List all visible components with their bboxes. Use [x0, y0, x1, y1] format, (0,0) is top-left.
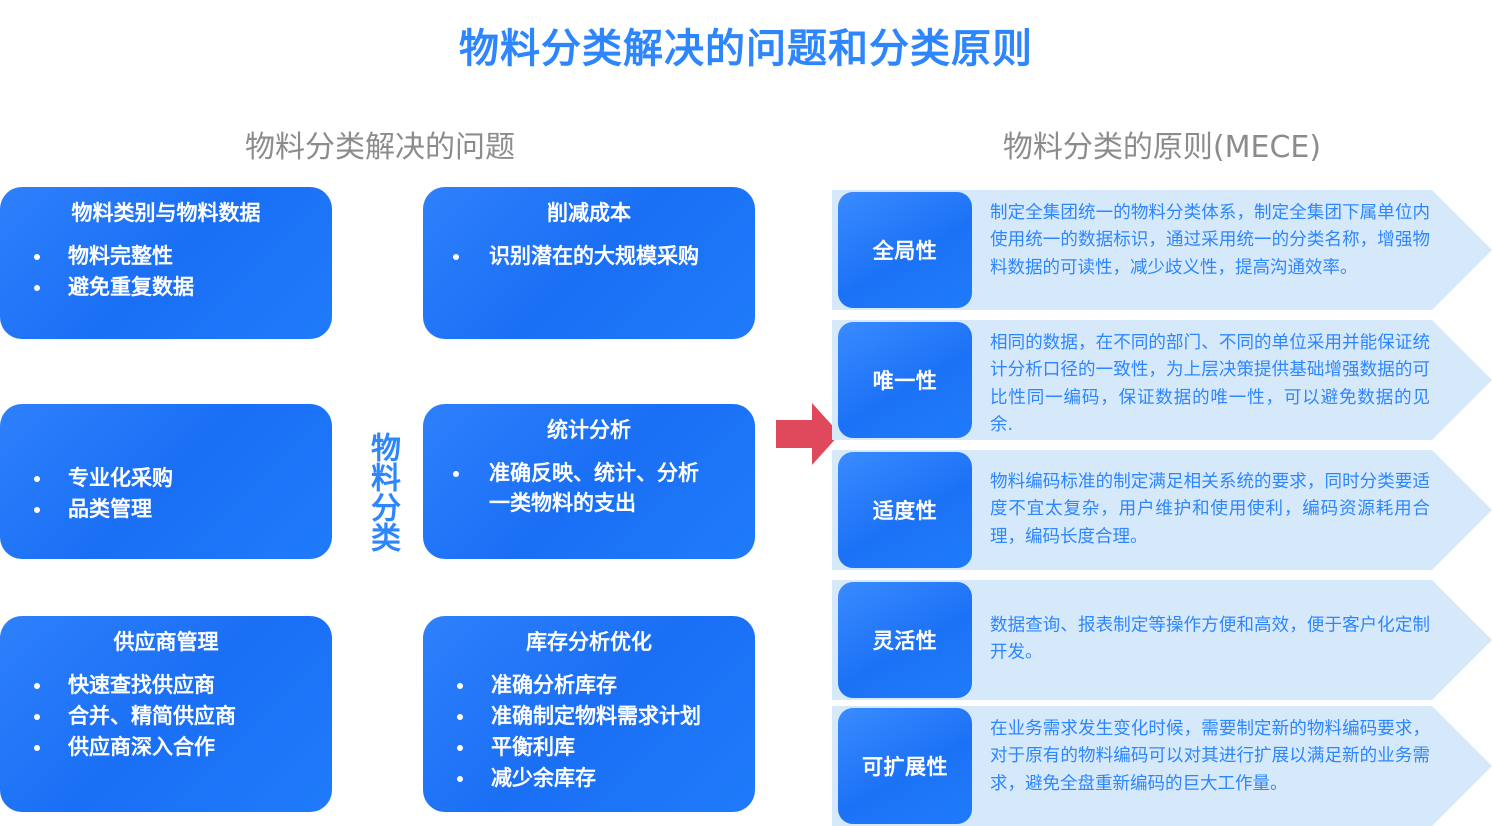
problem-card-list: 准确分析库存 准确制定物料需求计划 平衡利库 减少余库存: [433, 671, 745, 793]
page-title: 物料分类解决的问题和分类原则: [0, 16, 1492, 74]
principle-row[interactable]: 适度性 物料编码标准的制定满足相关系统的要求，同时分类要适度不宜太复杂，用户维护…: [832, 450, 1492, 570]
problem-card[interactable]: 统计分析 准确反映、统计、分析 一类物料的支出: [423, 404, 755, 559]
principle-text: 制定全集团统一的物料分类体系，制定全集团下属单位内使用统一的数据标识，通过采用统…: [990, 200, 1430, 282]
list-item: 准确反映、统计、分析 一类物料的支出: [447, 459, 745, 519]
problem-card-title: 供应商管理: [10, 630, 322, 655]
right-arrow-icon: [776, 403, 840, 465]
principle-label: 全局性: [838, 192, 972, 308]
problem-card[interactable]: 削减成本 识别潜在的大规模采购: [423, 187, 755, 339]
list-item: 品类管理: [28, 495, 322, 525]
list-item: 平衡利库: [451, 733, 745, 763]
principle-label: 灵活性: [838, 582, 972, 698]
principle-row[interactable]: 可扩展性 在业务需求发生变化时候，需要制定新的物料编码要求，对于原有的物料编码可…: [832, 706, 1492, 826]
problem-card-list: 准确反映、统计、分析 一类物料的支出: [433, 459, 745, 519]
section-header-principles: 物料分类的原则(MECE): [832, 122, 1492, 166]
problem-card-title: 削减成本: [433, 201, 745, 226]
principle-text: 物料编码标准的制定满足相关系统的要求，同时分类要适度不宜太复杂，用户维护和使用使…: [990, 469, 1430, 551]
principle-row[interactable]: 灵活性 数据查询、报表制定等操作方便和高效，便于客户化定制开发。: [832, 580, 1492, 700]
list-item: 快速查找供应商: [28, 671, 322, 701]
problem-card-list: 快速查找供应商 合并、精简供应商 供应商深入合作: [10, 671, 322, 762]
problem-card[interactable]: 专业化采购 品类管理: [0, 404, 332, 559]
principle-label: 适度性: [838, 452, 972, 568]
problem-card[interactable]: 物料类别与物料数据 物料完整性 避免重复数据: [0, 187, 332, 339]
problem-card[interactable]: 库存分析优化 准确分析库存 准确制定物料需求计划 平衡利库 减少余库存: [423, 616, 755, 812]
list-item: 供应商深入合作: [28, 733, 322, 763]
problem-card-title: 物料类别与物料数据: [10, 201, 322, 226]
list-item: 避免重复数据: [28, 273, 322, 303]
problem-card-list: 物料完整性 避免重复数据: [10, 242, 322, 303]
problem-card[interactable]: 供应商管理 快速查找供应商 合并、精简供应商 供应商深入合作: [0, 616, 332, 812]
list-item: 合并、精简供应商: [28, 702, 322, 732]
problem-card-title: 库存分析优化: [433, 630, 745, 655]
principle-row[interactable]: 唯一性 相同的数据，在不同的部门、不同的单位采用并能保证统计分析口径的一致性，为…: [832, 320, 1492, 440]
list-item: 准确分析库存: [451, 671, 745, 701]
list-item: 准确制定物料需求计划: [451, 702, 745, 732]
principle-text: 在业务需求发生变化时候，需要制定新的物料编码要求，对于原有的物料编码可以对其进行…: [990, 716, 1430, 798]
section-header-problems: 物料分类解决的问题: [0, 122, 760, 166]
principle-row[interactable]: 全局性 制定全集团统一的物料分类体系，制定全集团下属单位内使用统一的数据标识，通…: [832, 190, 1492, 310]
problem-card-list: 专业化采购 品类管理: [10, 464, 322, 525]
list-item: 减少余库存: [451, 764, 745, 794]
principle-text: 数据查询、报表制定等操作方便和高效，便于客户化定制开发。: [990, 613, 1430, 668]
problem-card-title: 统计分析: [433, 418, 745, 443]
principle-label: 可扩展性: [838, 708, 972, 824]
list-item: 物料完整性: [28, 242, 322, 272]
list-item: 专业化采购: [28, 464, 322, 494]
center-vertical-label: 物料分类: [350, 432, 398, 552]
list-item: 识别潜在的大规模采购: [447, 242, 745, 272]
principle-text: 相同的数据，在不同的部门、不同的单位采用并能保证统计分析口径的一致性，为上层决策…: [990, 330, 1430, 439]
principle-label: 唯一性: [838, 322, 972, 438]
problem-card-list: 识别潜在的大规模采购: [433, 242, 745, 272]
